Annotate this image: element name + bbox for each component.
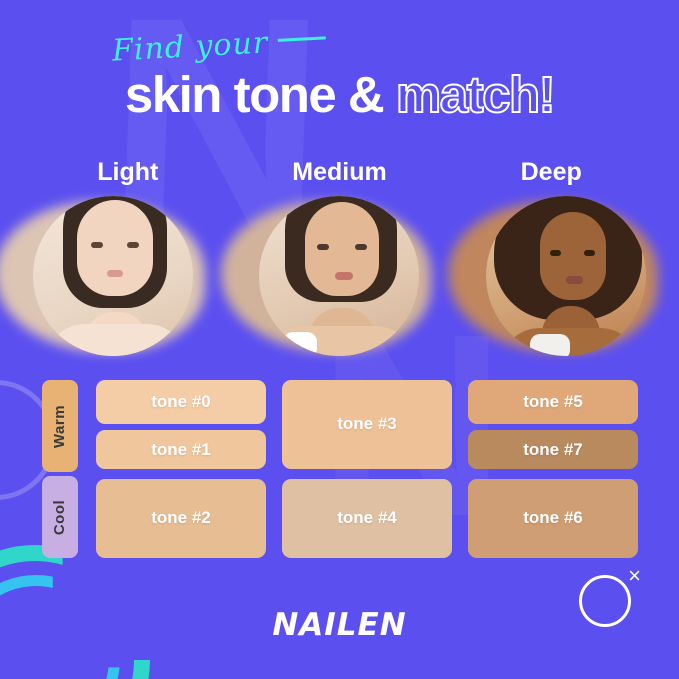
- logo-mark: ×: [579, 565, 641, 627]
- tone-swatch[interactable]: tone #5: [468, 380, 638, 424]
- tone-swatch-label: tone #4: [337, 508, 397, 528]
- face-render-light: [33, 196, 193, 356]
- poster-canvas: N N Find your skin tone & match! Light M…: [0, 0, 679, 679]
- tone-swatch[interactable]: tone #0: [96, 380, 266, 424]
- tone-swatch-label: tone #0: [151, 392, 211, 412]
- tone-row-labels: Warm Cool: [42, 380, 78, 558]
- tone-swatch[interactable]: tone #6: [468, 479, 638, 558]
- column-header-medium: Medium: [234, 158, 446, 187]
- tone-column-deep: tone #5 tone #7 tone #6: [468, 380, 638, 558]
- brand-wordmark: NAILEN: [0, 607, 679, 643]
- portrait-row: [0, 196, 679, 376]
- column-headers: Light Medium Deep: [0, 158, 679, 187]
- portrait-photo-deep: [486, 196, 646, 356]
- tone-swatch-label: tone #1: [151, 440, 211, 460]
- circle-outline-icon: [579, 575, 631, 627]
- tone-swatch-label: tone #5: [523, 392, 583, 412]
- face-render-medium: [259, 196, 419, 356]
- tone-swatch-label: tone #2: [151, 508, 211, 528]
- tone-swatch-label: tone #3: [337, 414, 397, 434]
- row-label-cool: Cool: [42, 476, 78, 558]
- close-cross-icon: ×: [628, 565, 641, 587]
- tone-swatch-label: tone #7: [523, 440, 583, 460]
- headline-dash: [278, 36, 326, 42]
- headline-eyebrow-text: Find your: [112, 25, 270, 68]
- row-label-cool-text: Cool: [51, 499, 68, 534]
- column-header-deep: Deep: [445, 158, 657, 187]
- tone-column-medium: tone #3 tone #4: [282, 380, 452, 558]
- tone-swatch[interactable]: tone #3: [282, 380, 452, 469]
- portrait-light: [23, 196, 203, 376]
- tone-swatch[interactable]: tone #1: [96, 430, 266, 469]
- portrait-medium: [249, 196, 429, 376]
- headline-title-outline: match!: [396, 66, 554, 123]
- tone-swatch[interactable]: tone #2: [96, 479, 266, 558]
- tone-swatch[interactable]: tone #7: [468, 430, 638, 469]
- tone-column-light: tone #0 tone #1 tone #2: [96, 380, 266, 558]
- tone-swatch-label: tone #6: [523, 508, 583, 528]
- column-header-light: Light: [22, 158, 234, 187]
- portrait-photo-light: [33, 196, 193, 356]
- headline-block: Find your skin tone & match!: [0, 24, 679, 124]
- portrait-photo-medium: [259, 196, 419, 356]
- row-label-warm-text: Warm: [52, 404, 69, 447]
- face-render-deep: [486, 196, 646, 356]
- headline-eyebrow: Find your: [112, 22, 328, 68]
- tone-grid: Warm Cool tone #0 tone #1 tone #2: [42, 380, 638, 558]
- headline-title: skin tone & match!: [0, 65, 679, 124]
- tone-columns: tone #0 tone #1 tone #2 tone #3 tone #4: [96, 380, 638, 558]
- portrait-deep: [476, 196, 656, 376]
- tone-swatch[interactable]: tone #4: [282, 479, 452, 558]
- headline-title-solid: skin tone &: [125, 66, 383, 123]
- row-label-warm: Warm: [42, 380, 78, 472]
